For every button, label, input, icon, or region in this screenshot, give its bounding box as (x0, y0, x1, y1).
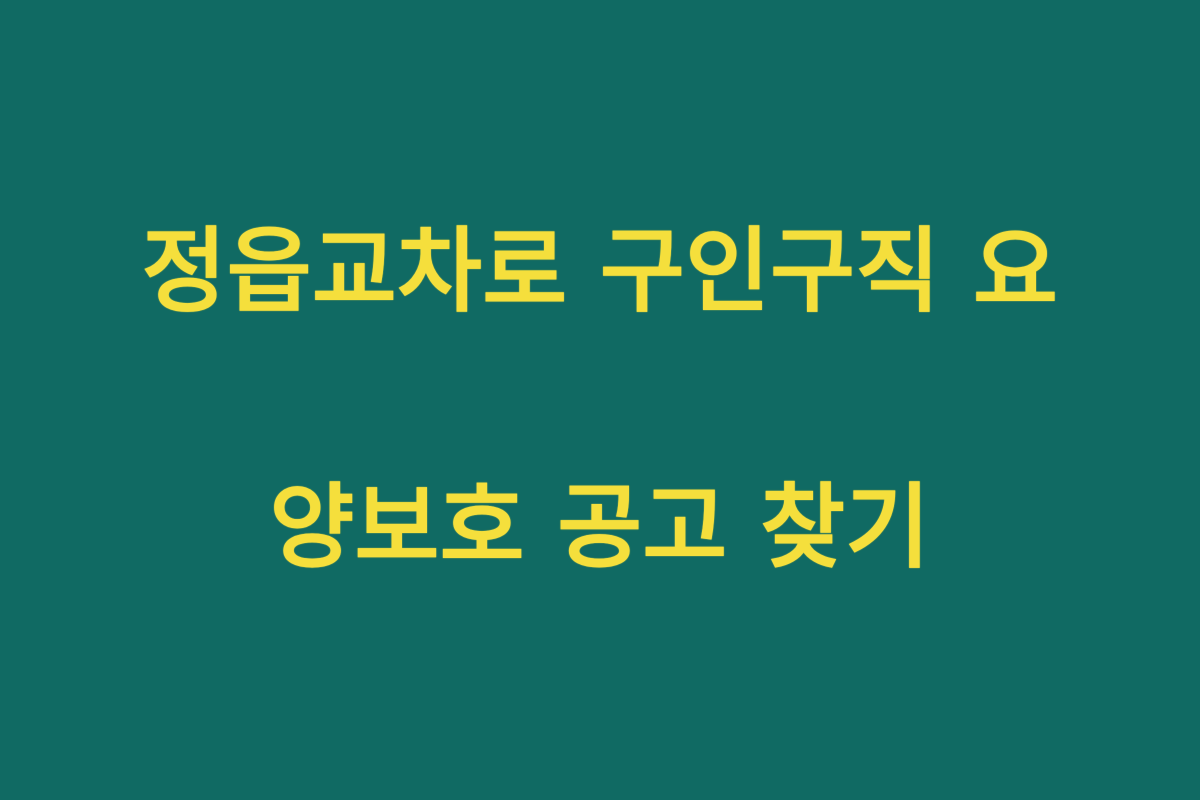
headline-line-1: 정읍교차로 구인구직 요 (50, 208, 1150, 336)
headline-line-2: 양보호 공고 찾기 (50, 464, 1150, 592)
page-title: 정읍교차로 구인구직 요 양보호 공고 찾기 (50, 80, 1150, 720)
banner-canvas: 정읍교차로 구인구직 요 양보호 공고 찾기 (0, 0, 1200, 800)
